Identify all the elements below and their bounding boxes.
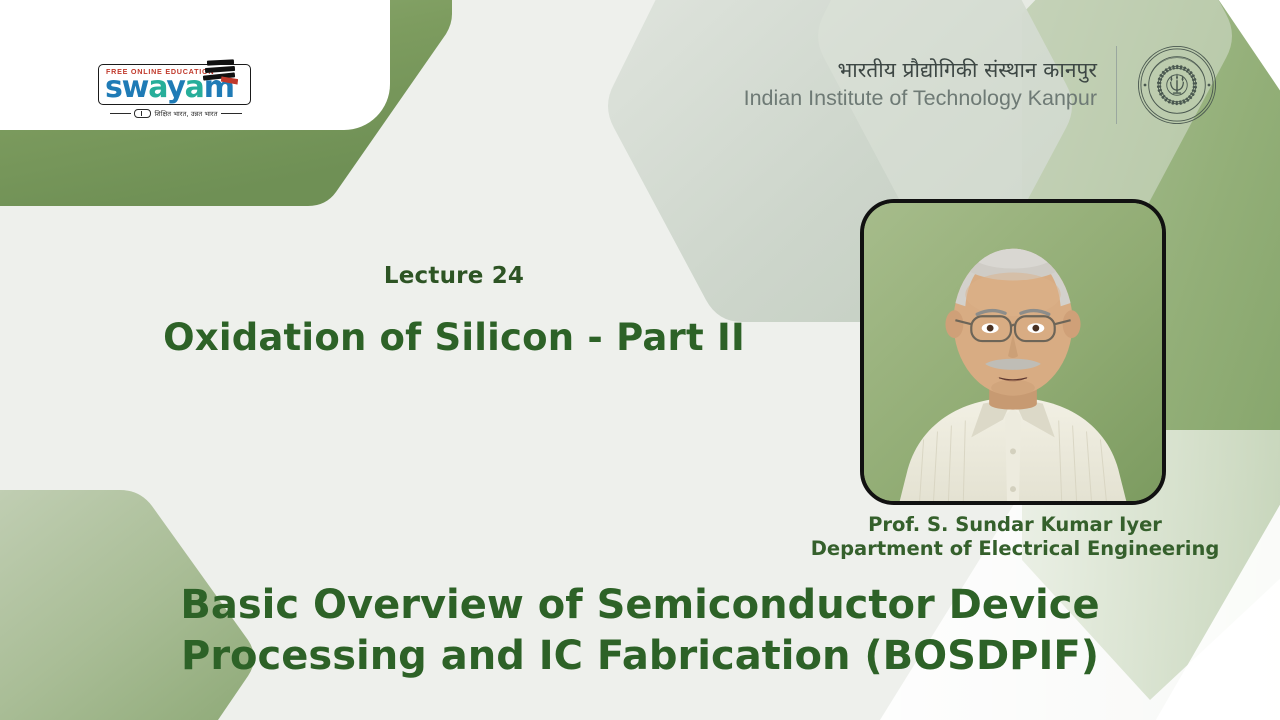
lecture-title-slide: FREE ONLINE EDUCATION swayam शिक्षित भार… bbox=[0, 0, 1280, 720]
institute-name-english: Indian Institute of Technology Kanpur bbox=[744, 85, 1097, 113]
swayam-tagline-bottom-row: शिक्षित भारत, उन्नत भारत bbox=[110, 108, 242, 119]
presenter-department: Department of Electrical Engineering bbox=[780, 537, 1250, 561]
lecture-number: Lecture 24 bbox=[0, 263, 908, 289]
presenter-photo bbox=[860, 199, 1166, 505]
presenter-name: Prof. S. Sundar Kumar Iyer bbox=[800, 513, 1230, 537]
tagline-rule-left bbox=[110, 113, 131, 114]
presenter-portrait-graphic bbox=[864, 203, 1162, 501]
swayam-letter-s: s bbox=[105, 70, 122, 105]
lecture-title: Oxidation of Silicon - Part II bbox=[0, 316, 908, 359]
institute-name-hindi: भारतीय प्रौद्योगिकी संस्थान कानपुर bbox=[744, 57, 1097, 83]
course-title-line2: Processing and IC Fabrication (BOSDPIF) bbox=[0, 631, 1280, 682]
course-title-line1: Basic Overview of Semiconductor Device bbox=[0, 580, 1280, 631]
stacked-books-icon bbox=[201, 54, 245, 86]
swayam-letter-a1: a bbox=[148, 70, 166, 105]
institute-header: भारतीय प्रौद्योगिकी संस्थान कानपुर India… bbox=[744, 44, 1218, 126]
course-title: Basic Overview of Semiconductor Device P… bbox=[0, 580, 1280, 682]
swayam-letter-w: w bbox=[122, 70, 149, 105]
header-divider bbox=[1116, 46, 1117, 124]
swayam-tagline-bottom: शिक्षित भारत, उन्नत भारत bbox=[154, 109, 217, 118]
swayam-logo[interactable]: FREE ONLINE EDUCATION swayam शिक्षित भार… bbox=[98, 58, 253, 120]
swayam-letter-y: y bbox=[166, 70, 184, 105]
iit-kanpur-seal-icon bbox=[1136, 44, 1218, 126]
book-open-icon bbox=[134, 109, 151, 118]
institute-name-block: भारतीय प्रौद्योगिकी संस्थान कानपुर India… bbox=[744, 57, 1116, 112]
tagline-rule-right bbox=[221, 113, 242, 114]
